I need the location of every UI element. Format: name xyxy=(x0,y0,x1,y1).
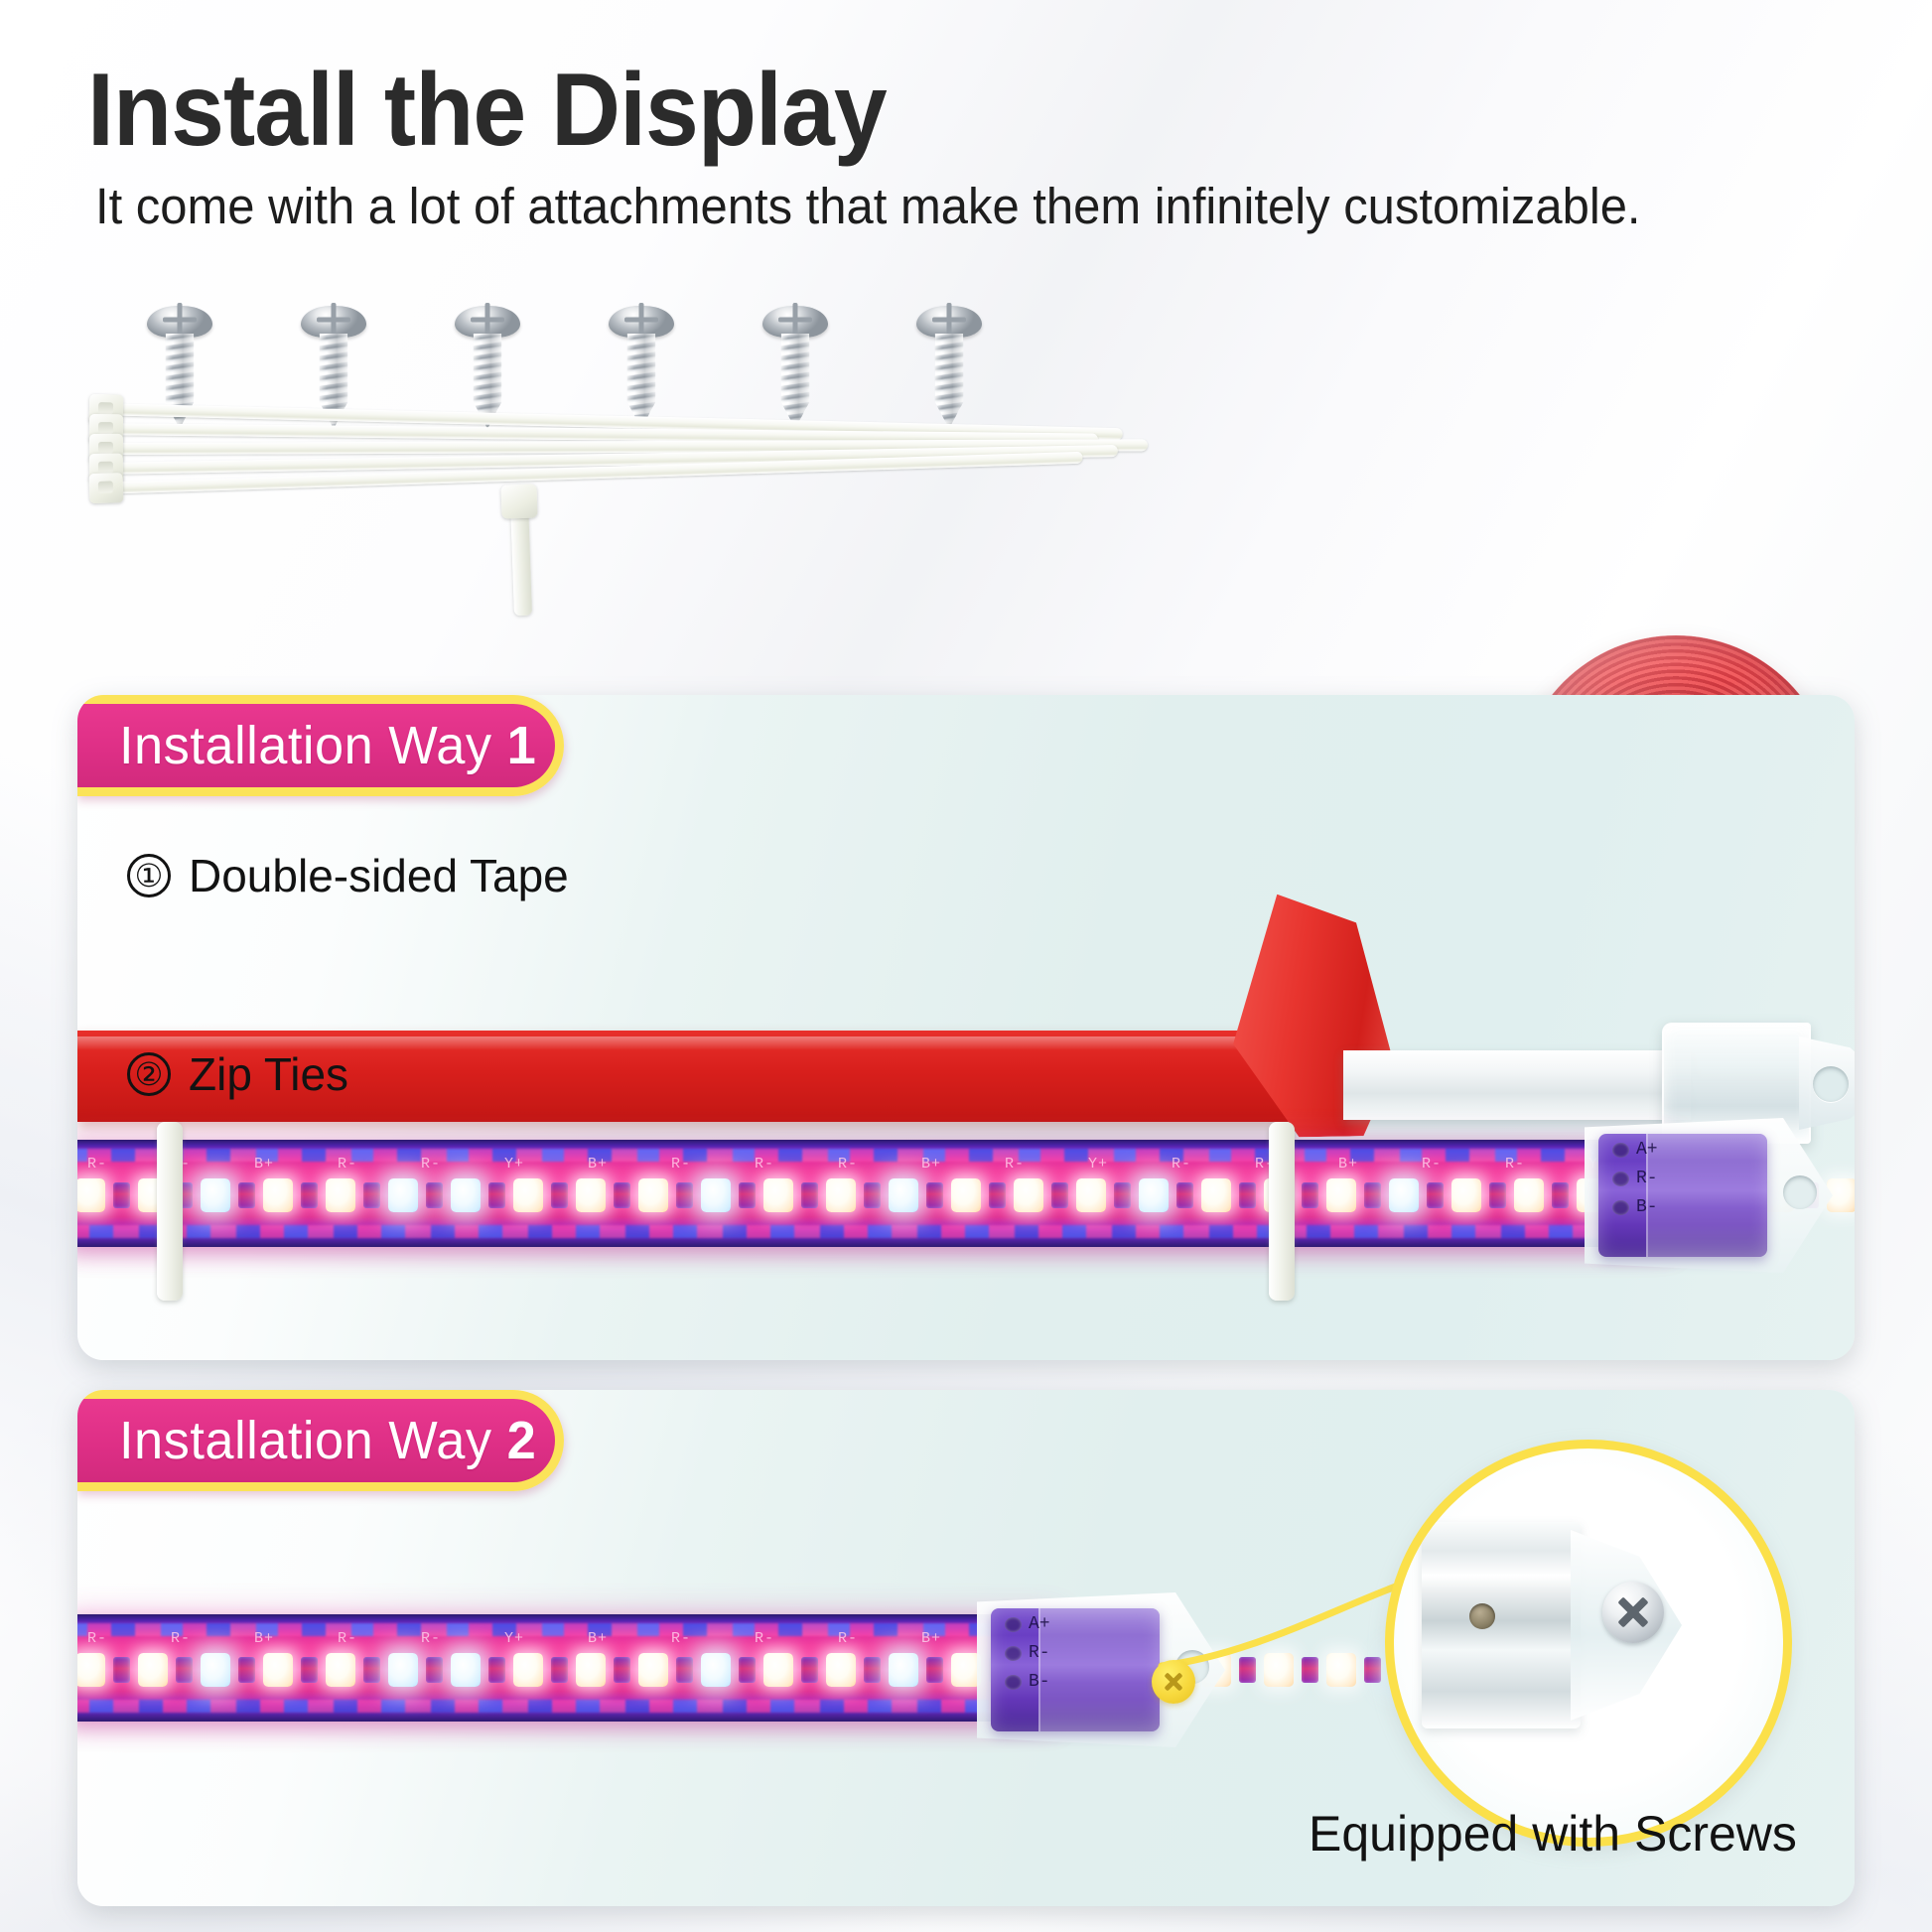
led-chip xyxy=(1076,1178,1106,1212)
screw-head xyxy=(916,306,982,338)
led-chip xyxy=(1326,1653,1356,1687)
led-resistor xyxy=(551,1657,568,1683)
zip-tie-loop xyxy=(157,1122,183,1301)
led-resistor xyxy=(1427,1182,1444,1208)
led-resistor xyxy=(1364,1657,1381,1683)
step-double-sided-tape: ① Double-sided Tape xyxy=(127,849,569,902)
led-chip xyxy=(1514,1178,1544,1212)
led-resistor xyxy=(1239,1657,1256,1683)
led-chip xyxy=(1201,1178,1231,1212)
led-chip xyxy=(763,1178,793,1212)
led-resistor xyxy=(426,1182,443,1208)
screw-head xyxy=(301,306,366,338)
screw-head xyxy=(762,306,828,338)
mounting-bracket-strip xyxy=(1343,1050,1691,1120)
led-chip xyxy=(701,1178,731,1212)
led-resistor xyxy=(363,1657,380,1683)
led-chip xyxy=(1264,1653,1294,1687)
led-chip xyxy=(576,1653,606,1687)
led-resistor xyxy=(238,1657,255,1683)
led-chip xyxy=(451,1653,481,1687)
aluminium-channel xyxy=(1422,1522,1581,1728)
led-chip-row xyxy=(77,1648,1058,1692)
led-resistor xyxy=(113,1182,130,1208)
led-resistor xyxy=(488,1657,505,1683)
led-resistor xyxy=(676,1182,693,1208)
step-label: Zip Ties xyxy=(189,1047,348,1101)
zip-tie-vertical xyxy=(510,500,532,617)
led-chip xyxy=(826,1178,856,1212)
led-chip xyxy=(388,1178,418,1212)
badge-text: Installation Way 1 xyxy=(119,715,536,776)
badge-text: Installation Way 2 xyxy=(119,1410,536,1471)
terminal-b-minus: B- xyxy=(1005,1672,1050,1692)
led-resistor xyxy=(926,1657,943,1683)
installation-way-1-card: Installation Way 1 ① Double-sided Tape ②… xyxy=(77,695,1855,1360)
led-strip: R-R-B+R-R-Y+B+R-R-R-B+R- xyxy=(77,1614,1058,1722)
led-chip xyxy=(1139,1178,1169,1212)
led-resistor xyxy=(989,1182,1006,1208)
led-resistor xyxy=(801,1182,818,1208)
led-chip xyxy=(638,1178,668,1212)
zip-tie-loop xyxy=(1269,1122,1295,1301)
led-resistor xyxy=(1364,1182,1381,1208)
led-resistor xyxy=(426,1657,443,1683)
screw-head xyxy=(609,306,674,338)
zip-tie-head xyxy=(89,473,124,503)
pcb-marks: R-R-B+R-R-Y+B+R-R-R-B+R- xyxy=(77,1630,1058,1648)
led-resistor xyxy=(739,1182,756,1208)
page-title: Install the Display xyxy=(87,52,887,170)
led-chip xyxy=(263,1653,293,1687)
mounting-hole xyxy=(1813,1066,1849,1102)
led-resistor xyxy=(1552,1182,1569,1208)
led-resistor xyxy=(1489,1182,1506,1208)
installation-way-1-badge: Installation Way 1 xyxy=(77,695,564,796)
led-resistor xyxy=(1176,1182,1193,1208)
led-chip xyxy=(451,1178,481,1212)
led-chip xyxy=(951,1178,981,1212)
led-chip xyxy=(1389,1178,1419,1212)
terminal-label: A+ xyxy=(1029,1614,1050,1634)
terminal-labels: A+ R- B- xyxy=(1005,1614,1050,1692)
led-chip xyxy=(326,1653,355,1687)
terminal-dot xyxy=(1005,1646,1022,1661)
led-chip xyxy=(513,1178,543,1212)
terminal-label: R- xyxy=(1636,1169,1658,1188)
terminal-dot xyxy=(1612,1200,1629,1215)
led-chip xyxy=(263,1178,293,1212)
terminal-b-minus: B- xyxy=(1612,1197,1658,1217)
terminal-labels: A+ R- B- xyxy=(1612,1140,1658,1217)
step-zip-ties: ② Zip Ties xyxy=(127,1047,348,1101)
screw-head xyxy=(455,306,520,338)
screw-zoom-callout xyxy=(1385,1440,1792,1847)
led-chip xyxy=(77,1178,105,1212)
led-chip xyxy=(576,1178,606,1212)
led-resistor xyxy=(864,1182,881,1208)
led-chip xyxy=(326,1178,355,1212)
led-chip xyxy=(138,1653,168,1687)
led-chip xyxy=(763,1653,793,1687)
led-chip xyxy=(201,1653,230,1687)
led-chip xyxy=(889,1178,918,1212)
step-number: ② xyxy=(127,1052,171,1096)
pcb-marks: R-R-B+R-R-Y+B+R-R-R-B+R-Y+R-R-B+R-R-Y+B+… xyxy=(77,1156,1674,1173)
callout-marker-icon xyxy=(1152,1660,1195,1704)
led-chip xyxy=(826,1653,856,1687)
screw-head xyxy=(147,306,212,338)
led-chip-row xyxy=(77,1173,1674,1217)
led-resistor xyxy=(363,1182,380,1208)
terminal-label: B- xyxy=(1636,1197,1658,1217)
terminal-a-plus: A+ xyxy=(1612,1140,1658,1160)
terminal-dot xyxy=(1005,1675,1022,1690)
led-resistor xyxy=(238,1182,255,1208)
terminal-r-minus: R- xyxy=(1612,1169,1658,1188)
led-chip xyxy=(701,1653,731,1687)
terminal-label: B- xyxy=(1029,1672,1050,1692)
led-resistor xyxy=(301,1657,318,1683)
led-resistor xyxy=(926,1182,943,1208)
end-cap-closeup xyxy=(1422,1500,1660,1748)
installation-way-2-badge: Installation Way 2 xyxy=(77,1390,564,1491)
led-resistor xyxy=(864,1657,881,1683)
led-chip xyxy=(388,1653,418,1687)
led-end-cap: A+ R- B- xyxy=(1598,1128,1807,1263)
led-resistor xyxy=(176,1657,193,1683)
led-resistor xyxy=(301,1182,318,1208)
led-resistor xyxy=(1114,1182,1131,1208)
led-resistor xyxy=(1302,1657,1318,1683)
terminal-label: A+ xyxy=(1636,1140,1658,1160)
mounting-hole xyxy=(1783,1175,1817,1209)
led-resistor xyxy=(739,1657,756,1683)
led-resistor xyxy=(551,1182,568,1208)
led-resistor xyxy=(614,1182,630,1208)
terminal-dot xyxy=(1005,1617,1022,1632)
led-resistor xyxy=(1051,1182,1068,1208)
step-label: Double-sided Tape xyxy=(189,849,569,902)
led-chip xyxy=(201,1178,230,1212)
led-chip xyxy=(77,1653,105,1687)
led-chip xyxy=(889,1653,918,1687)
led-chip xyxy=(1326,1178,1356,1212)
led-resistor xyxy=(1302,1182,1318,1208)
terminal-dot xyxy=(1612,1172,1629,1186)
led-chip xyxy=(513,1653,543,1687)
led-resistor xyxy=(614,1657,630,1683)
parts-row xyxy=(0,278,1932,556)
terminal-label: R- xyxy=(1029,1643,1050,1663)
led-strip: R-R-B+R-R-Y+B+R-R-R-B+R-Y+R-R-B+R-R-Y+B+… xyxy=(77,1140,1674,1247)
page-subtitle: It come with a lot of attachments that m… xyxy=(95,177,1641,235)
terminal-dot xyxy=(1612,1143,1629,1158)
led-resistor xyxy=(801,1657,818,1683)
led-chip xyxy=(951,1653,981,1687)
step-number: ① xyxy=(127,854,171,897)
led-chip xyxy=(1014,1178,1043,1212)
led-resistor xyxy=(676,1657,693,1683)
screw-head-icon xyxy=(1602,1582,1664,1643)
led-resistor xyxy=(1239,1182,1256,1208)
led-resistor xyxy=(488,1182,505,1208)
terminal-a-plus: A+ xyxy=(1005,1614,1050,1634)
terminal-r-minus: R- xyxy=(1005,1643,1050,1663)
led-resistor xyxy=(113,1657,130,1683)
led-chip xyxy=(638,1653,668,1687)
zip-tie-icon xyxy=(95,397,1197,536)
callout-caption: Equipped with Screws xyxy=(1309,1805,1797,1863)
led-chip xyxy=(1451,1178,1481,1212)
